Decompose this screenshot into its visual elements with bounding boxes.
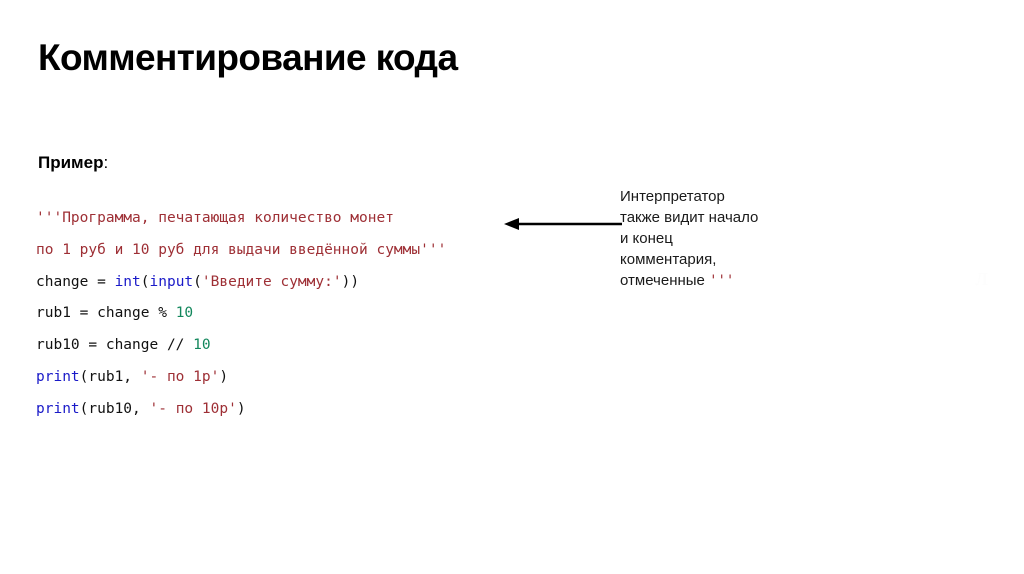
- code-token-num: 10: [176, 305, 193, 321]
- code-token-str: '- по 10р': [150, 401, 237, 417]
- code-line-rub1: rub1 = change % 10: [36, 298, 446, 330]
- annotation-last-text: отмеченные: [620, 272, 709, 289]
- code-block: '''Программа, печатающая количество моне…: [36, 203, 446, 426]
- code-token-comment: '''Программа, печатающая количество моне…: [36, 210, 394, 226]
- pointer-arrow: [500, 212, 624, 236]
- code-token-plain: ): [219, 369, 228, 385]
- annotation-text: Интерпретатортакже видит началои конецко…: [620, 186, 850, 292]
- code-token-kw: input: [150, 274, 194, 290]
- example-label-colon: :: [103, 153, 108, 172]
- code-token-kw: int: [115, 274, 141, 290]
- code-token-kw: print: [36, 401, 80, 417]
- code-token-plain: (rub1,: [80, 369, 141, 385]
- annotation-line-2: также видит начало: [620, 207, 850, 228]
- code-token-comment: по 1 руб и 10 руб для выдачи введённой с…: [36, 242, 446, 258]
- code-token-str: '- по 1р': [141, 369, 220, 385]
- code-token-plain: (rub10,: [80, 401, 150, 417]
- code-token-plain: rub10 = change //: [36, 337, 193, 353]
- code-token-plain: )): [342, 274, 359, 290]
- code-line-change: change = int(input('Введите сумму:')): [36, 267, 446, 299]
- code-token-plain: rub1 = change %: [36, 305, 176, 321]
- code-token-str: 'Введите сумму:': [202, 274, 342, 290]
- code-line-print1: print(rub1, '- по 1р'): [36, 362, 446, 394]
- example-label-text: Пример: [38, 153, 103, 172]
- annotation-line-3: и конец: [620, 228, 850, 249]
- code-token-plain: change =: [36, 274, 115, 290]
- comment-line-2: по 1 руб и 10 руб для выдачи введённой с…: [36, 235, 446, 267]
- page-title: Комментирование кода: [38, 37, 457, 79]
- annotation-line-4: комментария,: [620, 249, 850, 270]
- annotation-triple-quote-marker: ''': [709, 273, 734, 289]
- code-token-plain: ): [237, 401, 246, 417]
- code-token-kw: print: [36, 369, 80, 385]
- code-token-plain: (: [193, 274, 202, 290]
- code-line-print10: print(rub10, '- по 10р'): [36, 394, 446, 426]
- example-label: Пример:: [38, 153, 108, 173]
- code-line-rub10: rub10 = change // 10: [36, 330, 446, 362]
- watermark: л: [975, 262, 1009, 292]
- slide-canvas: Комментирование кода Пример: '''Программ…: [0, 0, 1024, 574]
- code-token-plain: (: [141, 274, 150, 290]
- annotation-line-1: Интерпретатор: [620, 186, 850, 207]
- code-token-num: 10: [193, 337, 210, 353]
- annotation-line-last: отмеченные ''': [620, 270, 850, 292]
- comment-line-1: '''Программа, печатающая количество моне…: [36, 203, 446, 235]
